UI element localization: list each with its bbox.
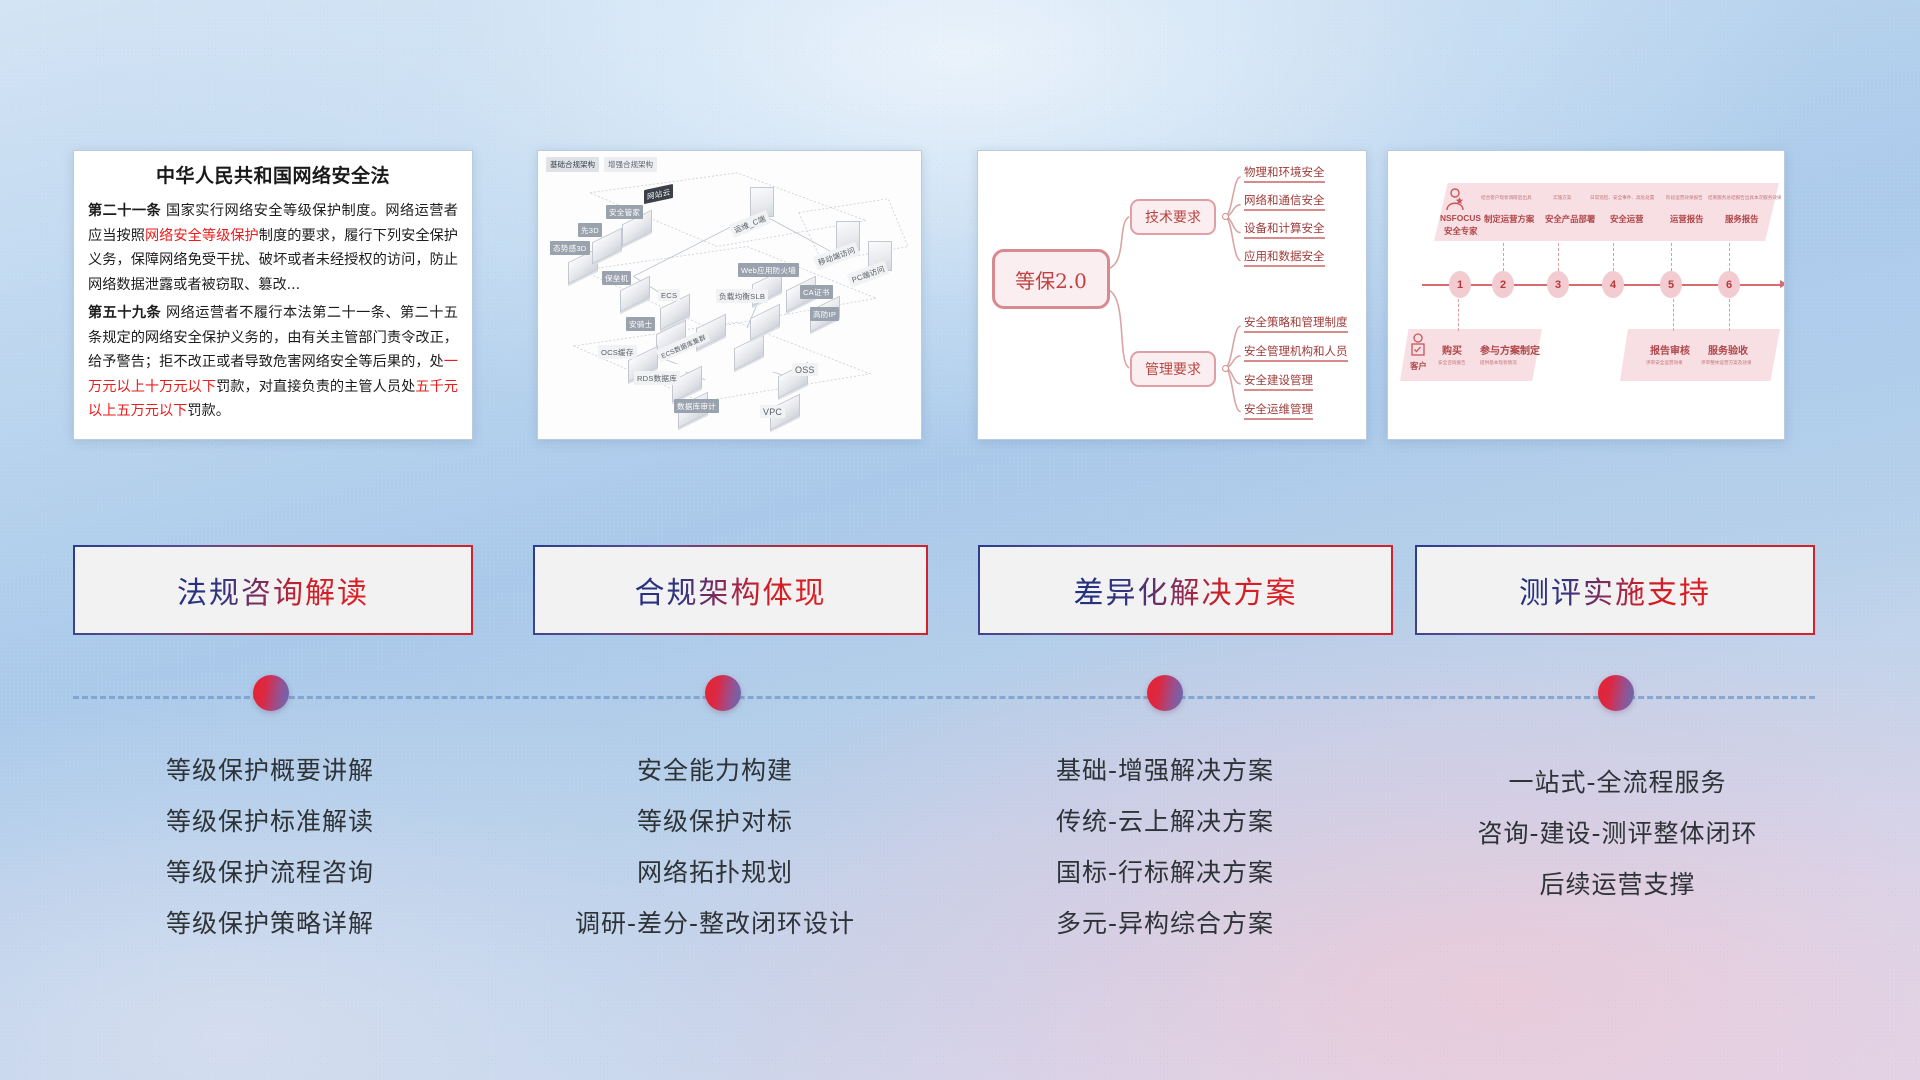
timeline-node-6[interactable]: 6 (1718, 271, 1740, 298)
brand-subtitle: 安全专家 (1444, 225, 1478, 237)
feature-list-2: 安全能力构建 等级保护对标 网络拓扑规划 调研-差分-整改闭环设计 (505, 745, 925, 949)
label-oss: OSS (792, 363, 818, 376)
bottom-step-4-label: 服务验收 (1708, 342, 1748, 357)
timeline-node-2[interactable]: 2 (1492, 271, 1514, 298)
label-safe-butler: 安全管家 (606, 205, 643, 219)
list-item: 等级保护策略详解 (60, 898, 480, 949)
top-step-2-sub: 结合客户现状调研后出具 (1481, 195, 1532, 201)
connector-b5 (1673, 299, 1674, 331)
label-safe-knight: 安骑士 (626, 317, 655, 331)
mindmap-leaf-build: 安全建设管理 (1244, 373, 1313, 391)
architecture-diagram: 基础合规架构 增强合规架构 (538, 151, 921, 439)
mindmap-branch-management: 管理要求 (1130, 351, 1216, 387)
connector-b1 (1458, 299, 1459, 331)
card-compliance-architecture: 基础合规架构 增强合规架构 (537, 150, 922, 440)
article-59-text-2: 罚款，对直接负责的主管人员处 (216, 379, 415, 395)
connector-b6 (1729, 299, 1730, 331)
feature-lists-row: 等级保护概要讲解 等级保护标准解读 等级保护流程咨询 等级保护策略详解 安全能力… (0, 745, 1920, 975)
section-titles-row: 法规咨询解读 合规架构体现 差异化解决方案 测评实施支持 (0, 545, 1920, 635)
top-step-3-sub: 实施方案 (1553, 195, 1571, 201)
timeline-dashed-line (73, 696, 1815, 699)
service-timeline: NSFOCUS 安全专家 客户 结合客户现状调研后出具 制定运营方案 实施方案 … (1388, 151, 1784, 439)
timeline-marker-2[interactable] (705, 675, 741, 711)
connector-4 (1613, 243, 1614, 271)
bottom-step-1-sub: 安全咨询报告 (1438, 360, 1466, 366)
label-slb: 负载均衡SLB (716, 289, 768, 303)
mindmap-leaf-network: 网络和通信安全 (1244, 193, 1325, 211)
list-item: 国标-行标解决方案 (950, 847, 1380, 898)
progress-timeline (0, 688, 1920, 728)
title-label-4: 测评实施支持 (1519, 568, 1711, 612)
connector-3 (1558, 243, 1559, 271)
mindmap-branch-technical: 技术要求 (1130, 199, 1216, 235)
mindmap-leaf-policy: 安全策略和管理制度 (1244, 315, 1348, 333)
mindmap-leaf-org: 安全管理机构和人员 (1244, 344, 1348, 362)
card-dengbao-mindmap: 等保2.0 技术要求 物理和环境安全 网络和通信安全 设备和计算安全 应用和数据… (977, 150, 1367, 440)
list-item: 后续运营支撑 (1395, 859, 1840, 910)
title-box-assessment-support[interactable]: 测评实施支持 (1415, 545, 1815, 635)
list-item: 网络拓扑规划 (505, 847, 925, 898)
connector-5 (1671, 243, 1672, 271)
feature-list-3: 基础-增强解决方案 传统-云上解决方案 国标-行标解决方案 多元-异构综合方案 (950, 745, 1380, 949)
law-article-21: 第二十一条 国家实行网络安全等级保护制度。网络运营者应当按照网络安全等级保护制度… (88, 199, 458, 297)
list-item: 一站式-全流程服务 (1395, 757, 1840, 808)
label-vpc: VPC (760, 405, 785, 418)
customer-label: 客户 (1410, 360, 1427, 372)
customer-person-icon (1408, 333, 1428, 359)
list-item: 咨询-建设-测评整体闭环 (1395, 808, 1840, 859)
label-high-ip: 高防IP (810, 307, 839, 321)
timeline-arrow-icon (1780, 280, 1785, 288)
list-item: 基础-增强解决方案 (950, 745, 1380, 796)
label-web-waf: Web应用防火墙 (738, 263, 799, 277)
top-step-5-sub: 阶段运营效果报告 (1666, 195, 1703, 201)
top-step-4-label: 安全运营 (1610, 213, 1644, 225)
bottom-step-1-label: 购买 (1442, 342, 1462, 357)
bottom-step-3-sub: 评审安全运营效果 (1646, 360, 1683, 366)
label-ocs-cache: OCS缓存 (598, 345, 637, 359)
illustration-cards-row: 中华人民共和国网络安全法 第二十一条 国家实行网络安全等级保护制度。网络运营者应… (0, 150, 1920, 440)
list-item: 调研-差分-整改闭环设计 (505, 898, 925, 949)
label-situation-3d: 态势感3D (550, 241, 590, 255)
top-step-6-sub: 结束服务总结报告出具本次服务效果 (1708, 195, 1782, 201)
timeline-top-band (1434, 183, 1779, 241)
timeline-marker-4[interactable] (1598, 675, 1634, 711)
timeline-node-4[interactable]: 4 (1602, 271, 1624, 298)
top-step-6-label: 服务报告 (1725, 213, 1759, 225)
mindmap-leaf-physical: 物理和环境安全 (1244, 165, 1325, 183)
article-21-label: 第二十一条 (88, 203, 161, 219)
list-item: 等级保护流程咨询 (60, 847, 480, 898)
bottom-step-3-label: 报告审核 (1650, 342, 1690, 357)
list-item: 等级保护对标 (505, 796, 925, 847)
bottom-step-2-label: 参与方案制定 (1480, 342, 1540, 357)
top-step-5-label: 运营报告 (1670, 213, 1704, 225)
title-label-1: 法规咨询解读 (177, 568, 369, 612)
label-db-audit: 数据库审计 (674, 399, 719, 413)
top-step-2-label: 制定运营方案 (1484, 213, 1534, 225)
card-cybersecurity-law: 中华人民共和国网络安全法 第二十一条 国家实行网络安全等级保护制度。网络运营者应… (73, 150, 473, 440)
list-item: 多元-异构综合方案 (950, 898, 1380, 949)
top-step-4-sub: 日常巡检、安全事件、高危处置 (1590, 195, 1654, 201)
connector-2 (1503, 243, 1504, 271)
label-ecs: ECS (658, 289, 680, 301)
card-service-timeline: NSFOCUS 安全专家 客户 结合客户现状调研后出具 制定运营方案 实施方案 … (1387, 150, 1785, 440)
article-59-text-3: 罚款。 (187, 403, 230, 419)
label-waf-3d: 先3D (578, 223, 602, 237)
mindmap-root: 等保2.0 (992, 249, 1110, 309)
mindmap-leaf-device: 设备和计算安全 (1244, 221, 1325, 239)
label-bastion: 保垒机 (602, 271, 631, 285)
top-step-3-label: 安全产品部署 (1545, 213, 1595, 225)
connector-6 (1729, 243, 1730, 271)
list-item: 传统-云上解决方案 (950, 796, 1380, 847)
mindmap-leaf-ops: 安全运维管理 (1244, 402, 1313, 420)
expert-person-icon (1444, 187, 1466, 211)
list-item: 安全能力构建 (505, 745, 925, 796)
list-item: 等级保护概要讲解 (60, 745, 480, 796)
timeline-marker-1[interactable] (253, 675, 289, 711)
law-document: 中华人民共和国网络安全法 第二十一条 国家实行网络安全等级保护制度。网络运营者应… (74, 151, 472, 432)
list-item: 等级保护标准解读 (60, 796, 480, 847)
title-box-differentiated-solution[interactable]: 差异化解决方案 (978, 545, 1393, 635)
timeline-node-1[interactable]: 1 (1449, 271, 1471, 298)
title-label-2: 合规架构体现 (635, 568, 827, 612)
timeline-node-5[interactable]: 5 (1660, 271, 1682, 298)
title-box-compliance-architecture[interactable]: 合规架构体现 (533, 545, 928, 635)
label-rds: RDS数据库 (634, 371, 680, 385)
article-21-highlight: 网络安全等级保护 (145, 228, 259, 244)
mindmap-collapse-dot-management[interactable] (1222, 365, 1229, 372)
article-59-label: 第五十九条 (88, 305, 161, 321)
timeline-node-3[interactable]: 3 (1547, 271, 1569, 298)
law-title: 中华人民共和国网络安全法 (88, 161, 458, 188)
feature-list-1: 等级保护概要讲解 等级保护标准解读 等级保护流程咨询 等级保护策略详解 (60, 745, 480, 949)
title-label-3: 差异化解决方案 (1074, 568, 1298, 612)
timeline-bottom-band-right (1620, 329, 1780, 381)
brand-name: NSFOCUS (1440, 213, 1481, 223)
bottom-step-2-sub: 提供基本现状情况 (1480, 360, 1517, 366)
mindmap-leaf-appdata: 应用和数据安全 (1244, 249, 1325, 267)
feature-list-4: 一站式-全流程服务 咨询-建设-测评整体闭环 后续运营支撑 (1395, 757, 1840, 910)
mindmap: 等保2.0 技术要求 物理和环境安全 网络和通信安全 设备和计算安全 应用和数据… (978, 151, 1366, 439)
timeline-marker-3[interactable] (1147, 675, 1183, 711)
bottom-step-4-sub: 评审整体运营方案及效果 (1701, 360, 1752, 366)
mindmap-collapse-dot-technical[interactable] (1222, 213, 1229, 220)
label-ca-cert: CA证书 (800, 285, 833, 299)
law-article-59: 第五十九条 网络运营者不履行本法第二十一条、第二十五条规定的网络安全保护义务的，… (88, 301, 458, 424)
title-box-regulation-consulting[interactable]: 法规咨询解读 (73, 545, 473, 635)
